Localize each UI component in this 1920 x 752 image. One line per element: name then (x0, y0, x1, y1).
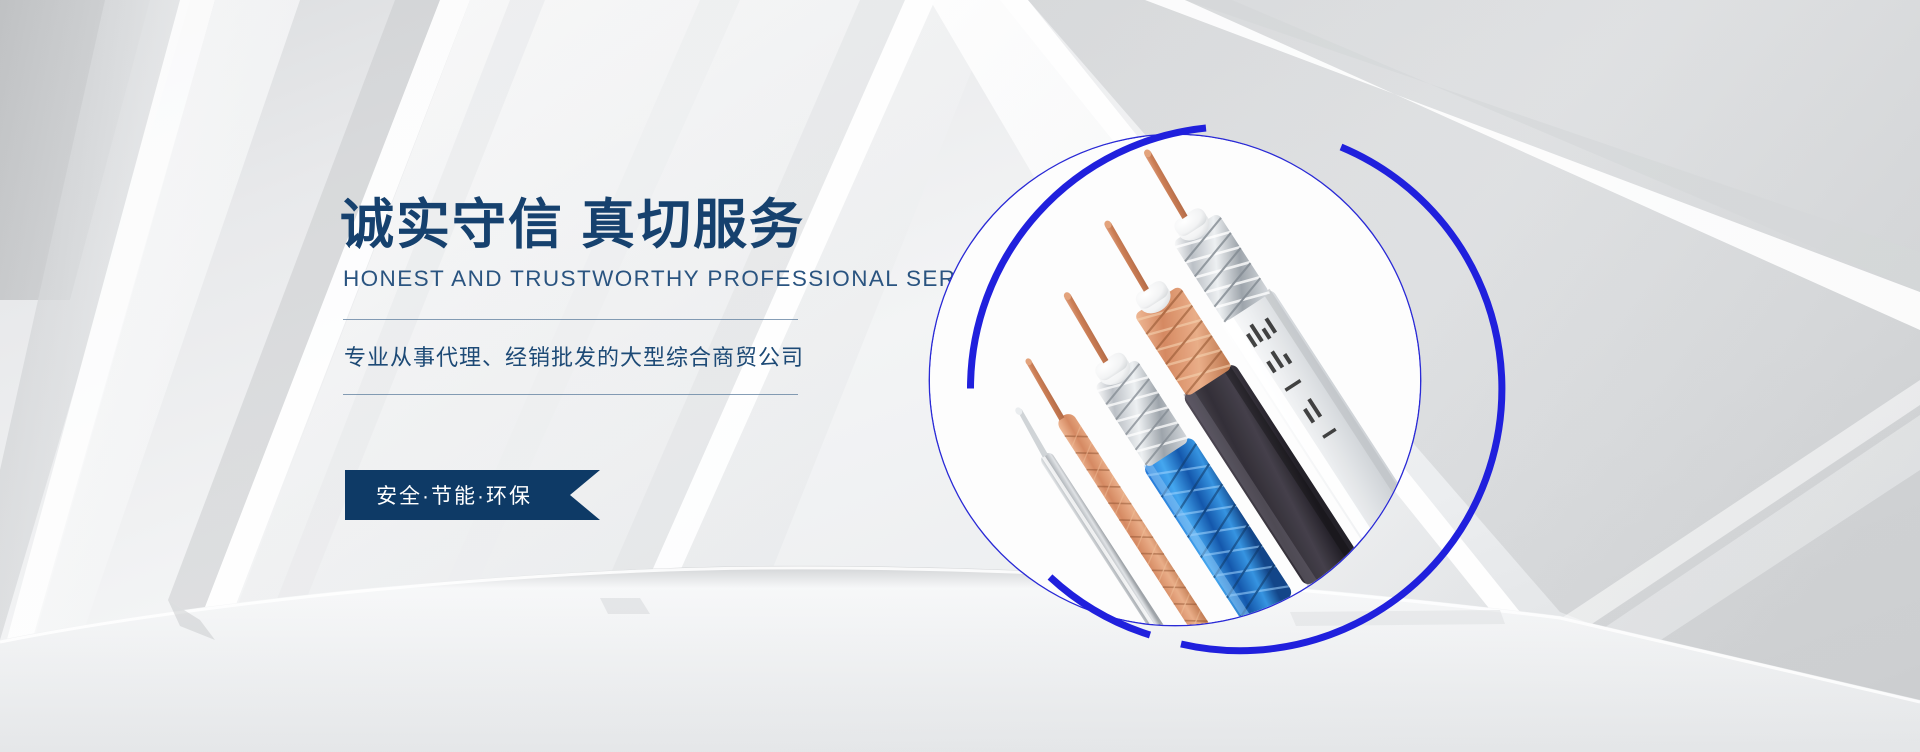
status-badge: 安全·节能·环保 (376, 470, 532, 520)
divider-top (343, 319, 798, 320)
badge-ribbon: 安全·节能·环保 (345, 470, 600, 520)
divider-bottom (343, 394, 798, 395)
circle-accent-ring (900, 100, 1600, 660)
banner-content: 诚实守信 真切服务 HONEST AND TRUSTWORTHY PROFESS… (0, 0, 1920, 752)
page-tagline: 专业从事代理、经销批发的大型综合商贸公司 (344, 340, 860, 372)
hero-banner: 诚实守信 真切服务 HONEST AND TRUSTWORTHY PROFESS… (0, 0, 1920, 752)
page-title: 诚实守信 真切服务 (340, 196, 860, 254)
headline-group: 诚实守信 真切服务 HONEST AND TRUSTWORTHY PROFESS… (340, 196, 860, 395)
product-image-block (900, 100, 1600, 660)
page-subtitle-english: HONEST AND TRUSTWORTHY PROFESSIONAL SERV… (343, 266, 860, 292)
